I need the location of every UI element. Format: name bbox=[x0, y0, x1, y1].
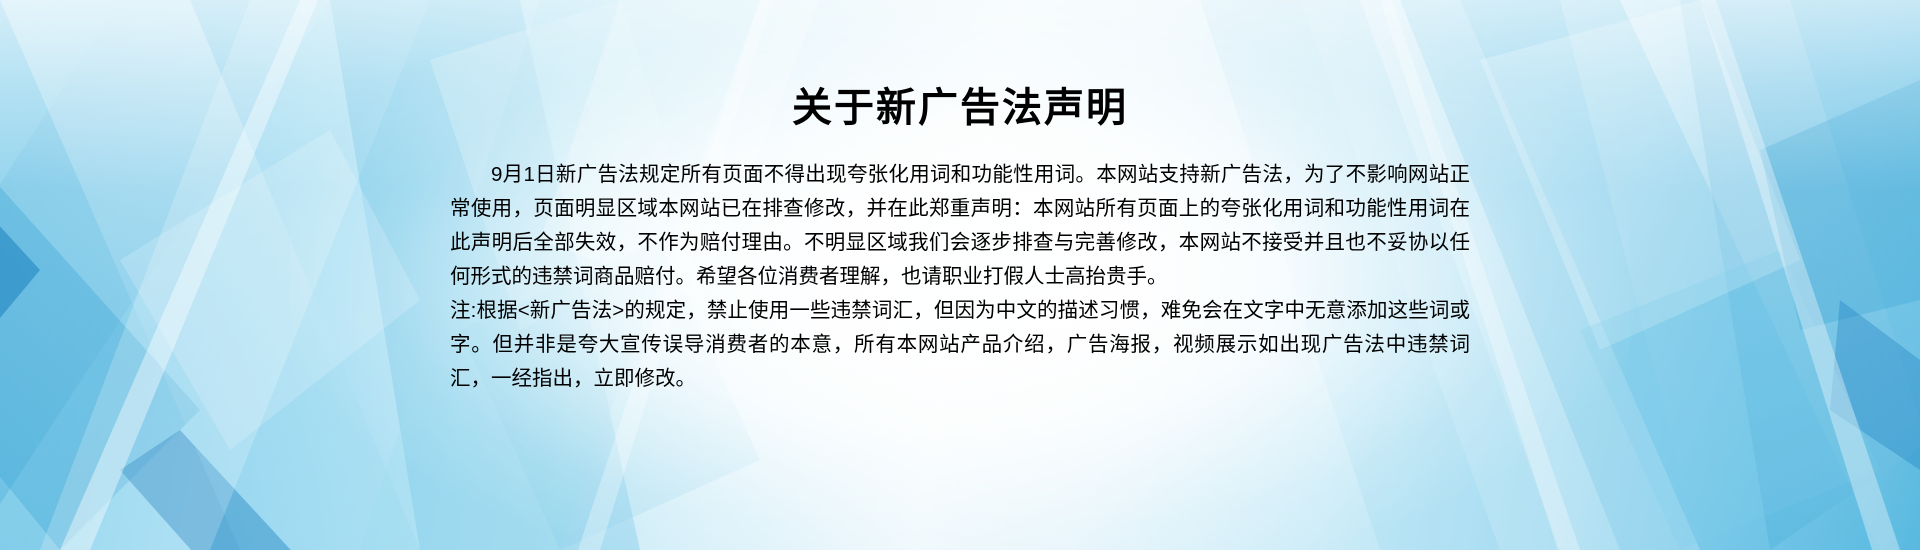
statement-body: 9月1日新广告法规定所有页面不得出现夸张化用词和功能性用词。本网站支持新广告法，… bbox=[450, 158, 1470, 396]
statement-paragraph-note: 注:根据<新广告法>的规定，禁止使用一些违禁词汇，但因为中文的描述习惯，难免会在… bbox=[450, 294, 1470, 396]
statement-paragraph-main: 9月1日新广告法规定所有页面不得出现夸张化用词和功能性用词。本网站支持新广告法，… bbox=[450, 158, 1470, 294]
page-title: 关于新广告法声明 bbox=[792, 88, 1128, 128]
advertising-law-statement-banner: 关于新广告法声明 9月1日新广告法规定所有页面不得出现夸张化用词和功能性用词。本… bbox=[0, 0, 1920, 550]
statement-content: 关于新广告法声明 9月1日新广告法规定所有页面不得出现夸张化用词和功能性用词。本… bbox=[0, 0, 1920, 550]
